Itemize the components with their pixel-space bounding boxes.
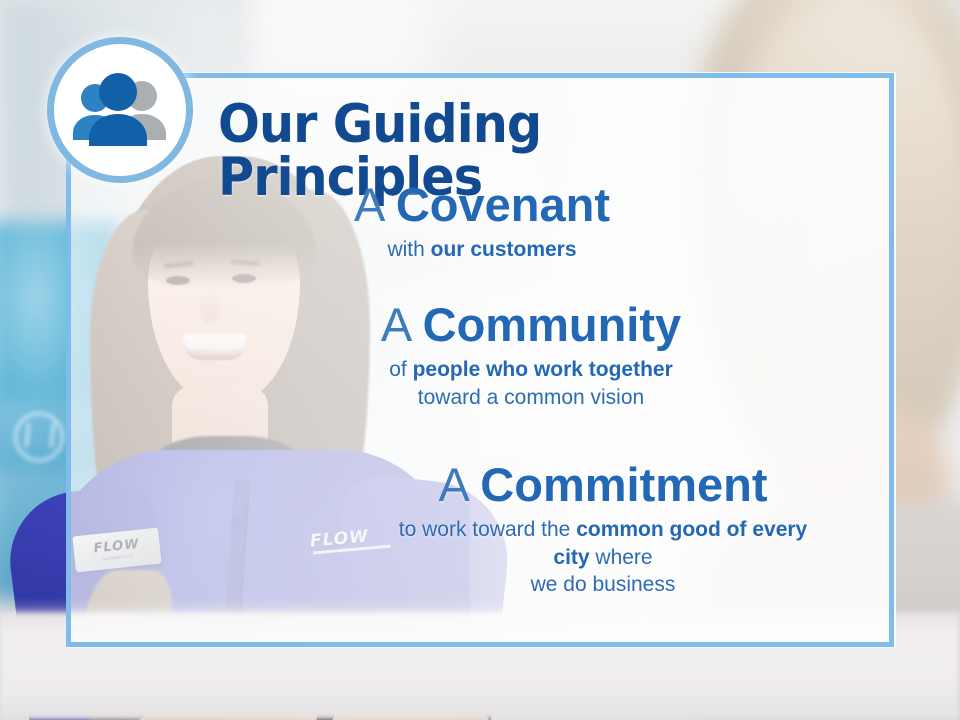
principle-article: A [438,458,480,511]
principle-keyword: Community [423,298,682,351]
principle-block-covenant: A Covenant with our customers [272,181,692,264]
principle-block-commitment: A Commitment to work toward the common g… [378,461,828,599]
principle-detail-line2: we do business [531,573,676,596]
principle-heading: A Community [316,301,746,349]
principle-detail-bold: our customers [431,238,577,261]
principle-detail-suffix: where [590,546,653,569]
principle-block-community: A Community of people who work together … [316,301,746,411]
principle-heading: A Covenant [272,181,692,229]
principle-detail-prefix: of [389,358,412,381]
photo-car-brand-logo [14,412,64,462]
principle-detail: of people who work together toward a com… [316,356,746,411]
principle-detail-prefix: to work toward the [399,518,576,541]
principle-detail-line2: toward a common vision [418,386,644,409]
principle-detail: to work toward the common good of every … [378,516,828,599]
principle-keyword: Covenant [396,178,610,231]
principle-article: A [354,178,396,231]
principle-detail-prefix: with [387,238,430,261]
principle-heading: A Commitment [378,461,828,509]
principle-keyword: Commitment [480,458,767,511]
principle-detail-bold: people who work together [413,358,673,381]
text-content: Our Guiding Principles A Covenant with o… [66,73,894,647]
principle-article: A [381,298,423,351]
principle-detail: with our customers [272,236,692,264]
banner-graphic: FLOW AUTOMOTIVE FLOW Our Guiding Princip… [0,0,960,720]
people-group-icon [68,73,172,147]
badge-circle [47,37,193,183]
